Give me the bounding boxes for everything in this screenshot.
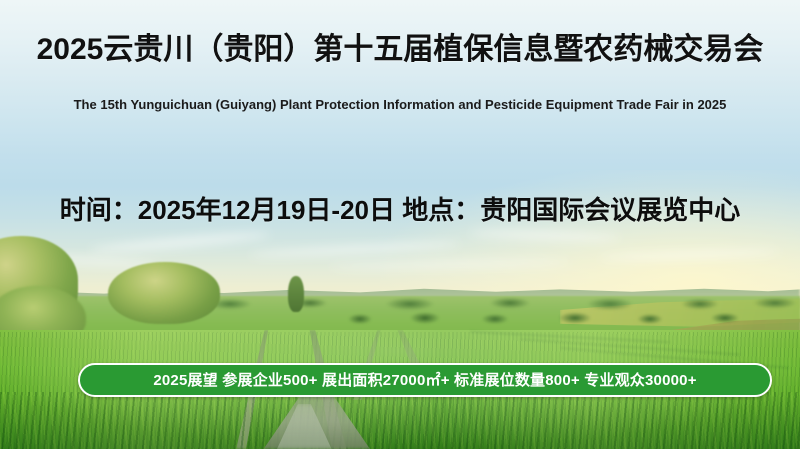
- poster-title-chinese: 2025云贵川（贵阳）第十五届植保信息暨农药械交易会: [0, 30, 800, 70]
- large-tree-mid: [108, 262, 220, 324]
- poster-subtitle-english: The 15th Yunguichuan (Guiyang) Plant Pro…: [0, 95, 800, 115]
- poster-datetime-location: 时间：2025年12月19日-20日 地点：贵阳国际会议展览中心: [0, 192, 800, 228]
- hedge-row: [330, 310, 800, 326]
- event-poster: 2025云贵川（贵阳）第十五届植保信息暨农药械交易会 The 15th Yung…: [0, 0, 800, 449]
- stats-banner: 2025展望 参展企业500+ 展出面积27000㎡+ 标准展位数量800+ 专…: [78, 363, 772, 397]
- stats-banner-text: 2025展望 参展企业500+ 展出面积27000㎡+ 标准展位数量800+ 专…: [153, 372, 696, 389]
- slim-tree: [288, 276, 304, 312]
